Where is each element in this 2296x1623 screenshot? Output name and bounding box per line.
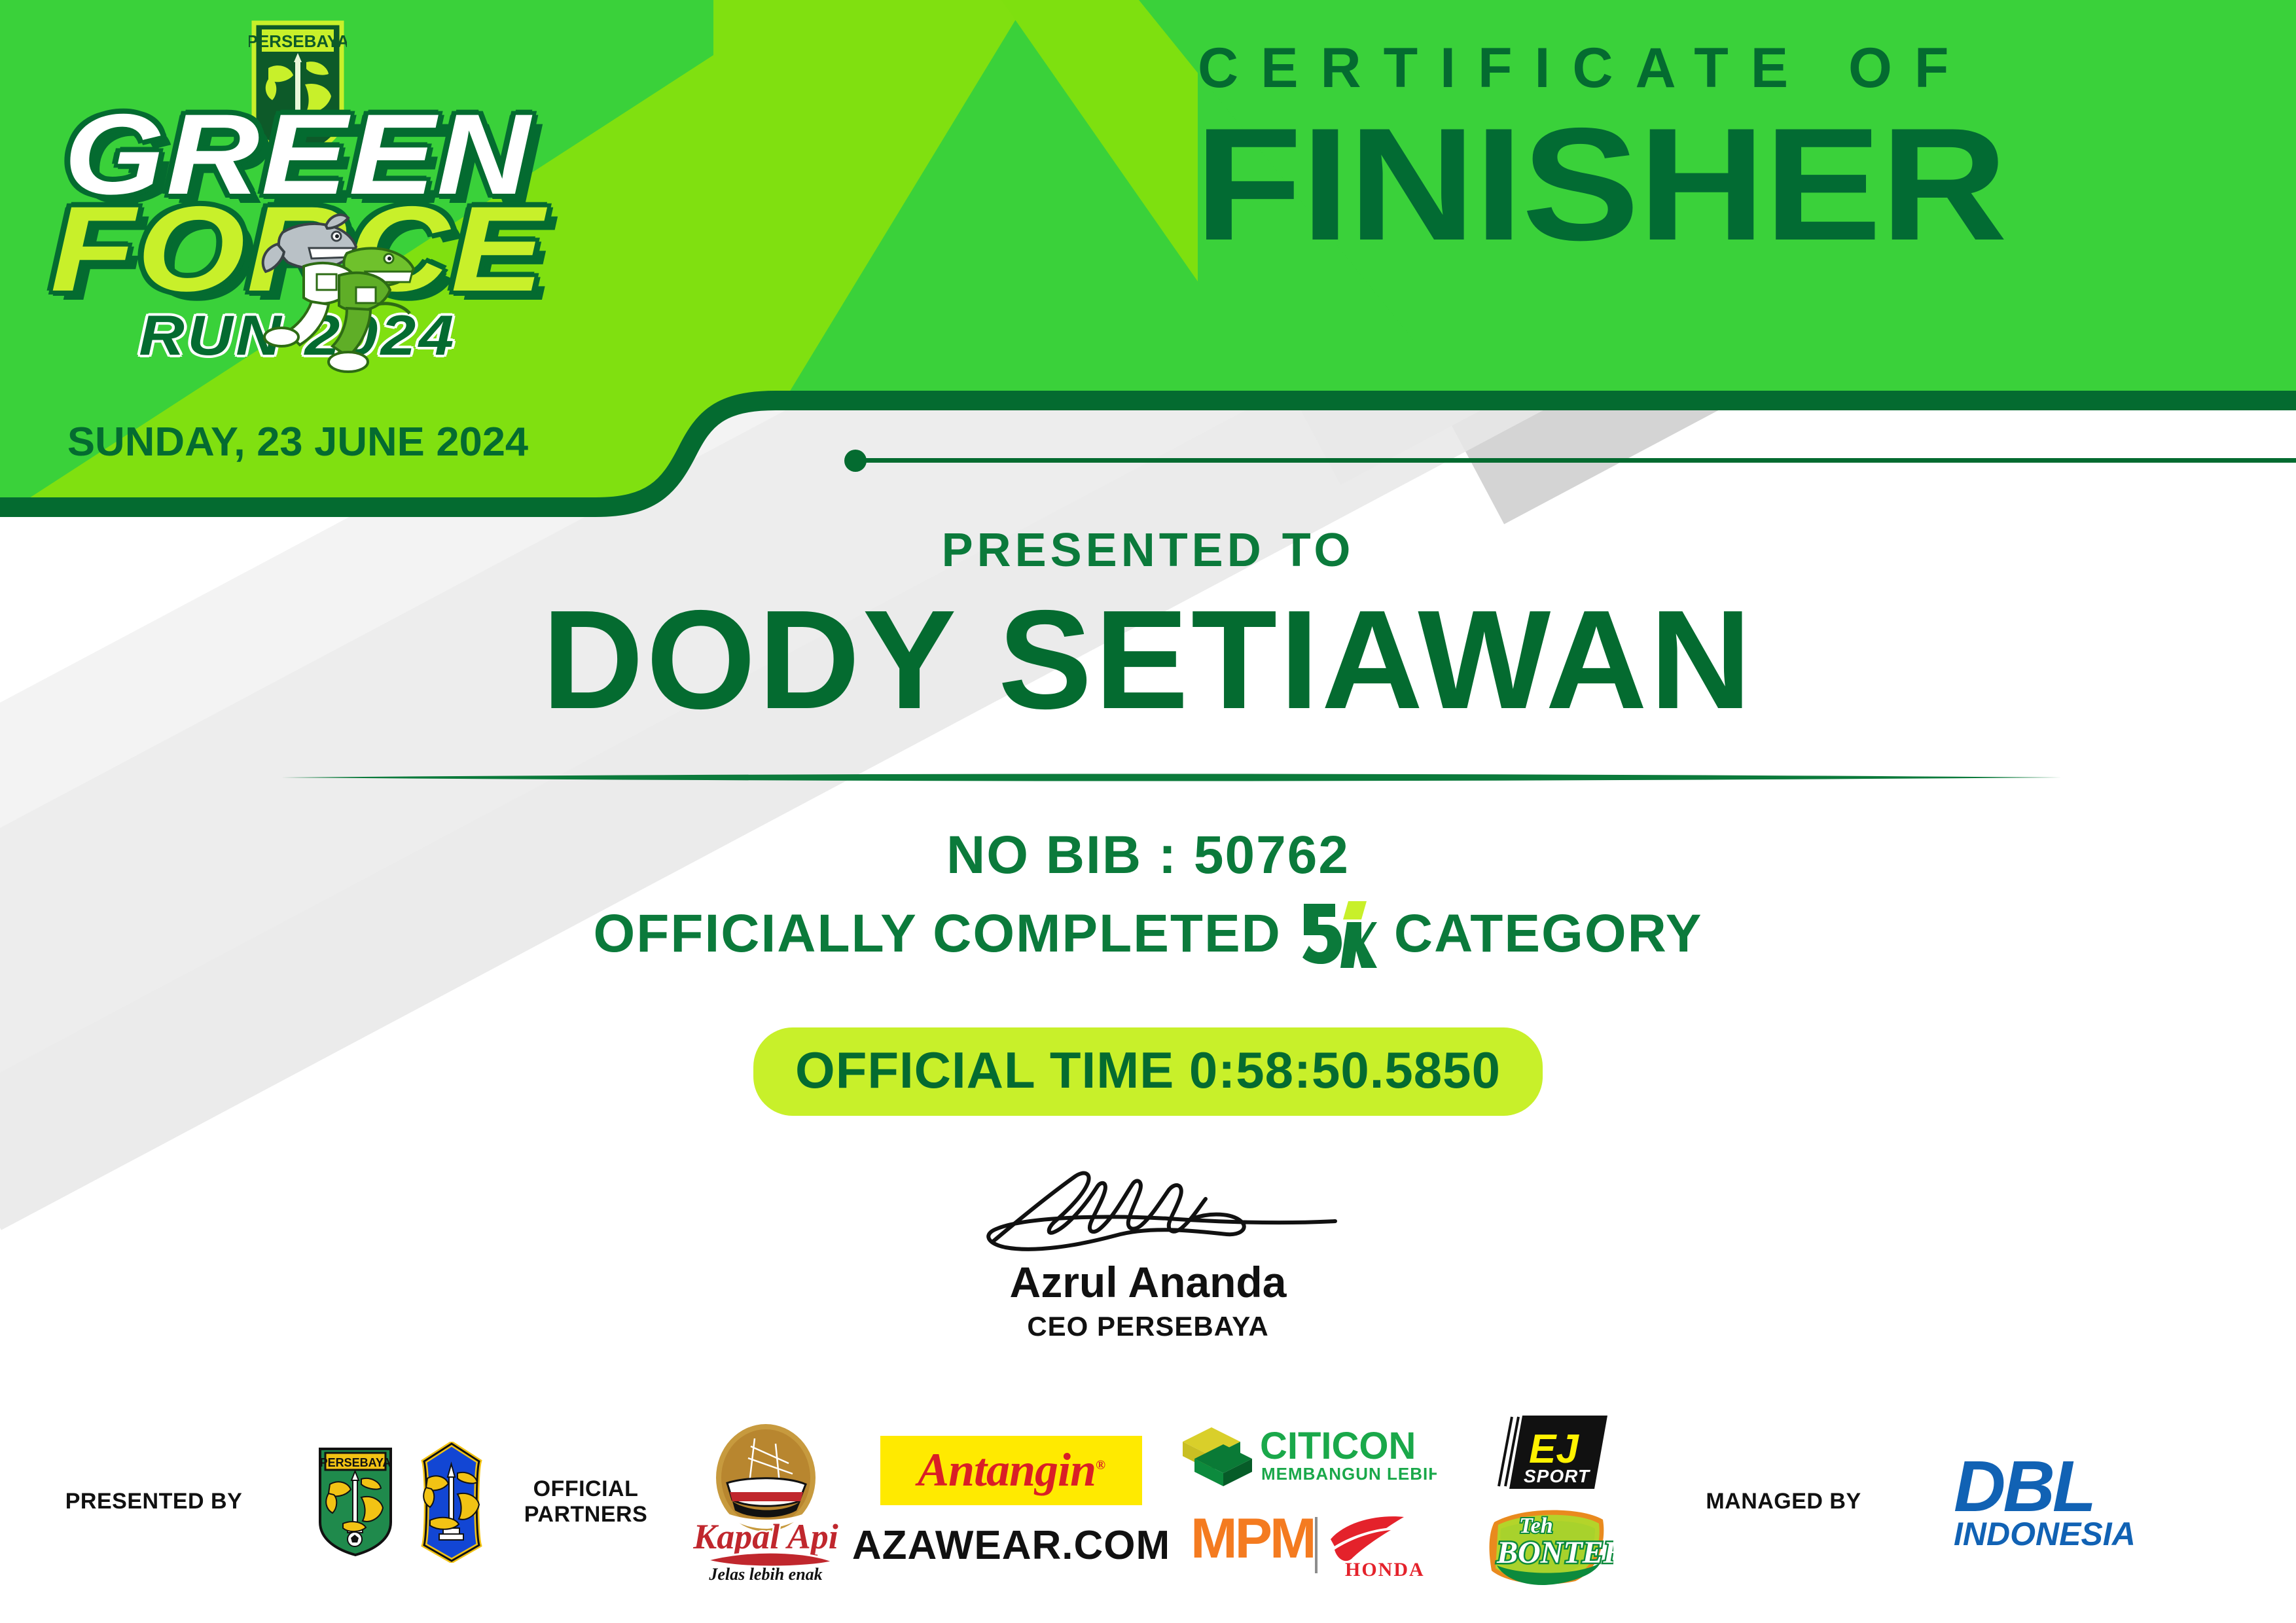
finisher-title: FINISHER	[1194, 92, 2006, 276]
sponsor-dbl-indonesia: DBL INDONESIA	[1921, 1443, 2196, 1561]
ej-wordmark: EJ	[1529, 1427, 1579, 1472]
sponsor-persebaya-crest: PERSEBAYA	[308, 1446, 403, 1558]
sponsor-ej-sport: EJ SPORT	[1486, 1413, 1610, 1495]
svg-text:PERSEBAYA: PERSEBAYA	[319, 1456, 391, 1469]
sponsor-footer: PRESENTED BY PERSEBAYA	[0, 1381, 2296, 1623]
sponsor-kapal-api: Kapal Api Jelas lebih enak	[671, 1420, 861, 1584]
certificate-canvas: CERTIFICATE OF FINISHER PERSEBAYA	[0, 0, 2296, 1623]
bib-number: NO BIB : 50762	[0, 825, 2296, 886]
mpm-wordmark: MPM	[1191, 1510, 1314, 1570]
signature-mark-icon	[0, 1158, 2296, 1260]
accent-line	[864, 458, 2296, 463]
presented-by-label: PRESENTED BY	[65, 1489, 243, 1514]
teh-label: Teh	[1519, 1514, 1553, 1538]
dbl-wordmark: DBL	[1954, 1446, 2094, 1527]
event-date: SUNDAY, 23 JUNE 2024	[27, 419, 568, 465]
citicon-tagline: MEMBANGUN LEBIH BAIK	[1261, 1464, 1437, 1484]
official-partners-line-2: PARTNERS	[524, 1502, 648, 1527]
category-line: OFFICIALLY COMPLETED CATEGORY	[0, 900, 2296, 968]
sponsor-teh-bonteh: Teh BONTEH	[1482, 1503, 1613, 1591]
dbl-indonesia-sub: INDONESIA	[1954, 1516, 2136, 1552]
managed-by-label: MANAGED BY	[1706, 1489, 1861, 1514]
kapal-api-tagline: Jelas lebih enak	[708, 1565, 822, 1584]
bonteh-label: BONTEH	[1496, 1535, 1613, 1570]
completed-suffix-label: CATEGORY	[1394, 903, 1703, 965]
completed-prefix-label: OFFICIALLY COMPLETED	[594, 903, 1282, 965]
accent-dot-icon	[844, 450, 867, 472]
crest-label: PERSEBAYA	[249, 31, 347, 51]
official-partners-label: OFFICIAL PARTNERS	[524, 1476, 648, 1527]
citicon-wordmark: CITICON	[1260, 1425, 1416, 1467]
event-logo-block: PERSEBAYA GREEN FORCE RUN 2024	[33, 10, 563, 494]
presented-to-label: PRESENTED TO	[0, 524, 2296, 577]
sponsor-antangin: Antangin®	[880, 1436, 1142, 1505]
honda-wordmark: HONDA	[1345, 1559, 1424, 1580]
name-divider	[0, 769, 2296, 786]
sponsor-citicon: CITICON MEMBANGUN LEBIH BAIK	[1175, 1418, 1437, 1493]
signatory-role: CEO PERSEBAYA	[0, 1311, 2296, 1342]
sponsor-mpm-honda: MPM HONDA	[1188, 1510, 1424, 1586]
header-accent-rule	[844, 447, 2296, 473]
ej-sport-sub: SPORT	[1524, 1466, 1591, 1486]
signatory-name: Azrul Ananda	[0, 1257, 2296, 1307]
recipient-name: DODY SETIAWAN	[0, 586, 2296, 734]
official-partners-line-1: OFFICIAL	[524, 1476, 648, 1502]
category-5k-badge-icon	[1299, 900, 1377, 968]
sponsor-surabaya-city-crest	[403, 1442, 501, 1563]
signature-block: Azrul Ananda CEO PERSEBAYA	[0, 1158, 2296, 1342]
official-time-badge: OFFICIAL TIME 0:58:50.5850	[753, 1027, 1543, 1116]
kapal-api-wordmark: Kapal Api	[692, 1517, 838, 1556]
shark-crocodile-mascot-icon	[249, 206, 445, 376]
sponsor-azawear: AZAWEAR.COM	[852, 1522, 1170, 1569]
